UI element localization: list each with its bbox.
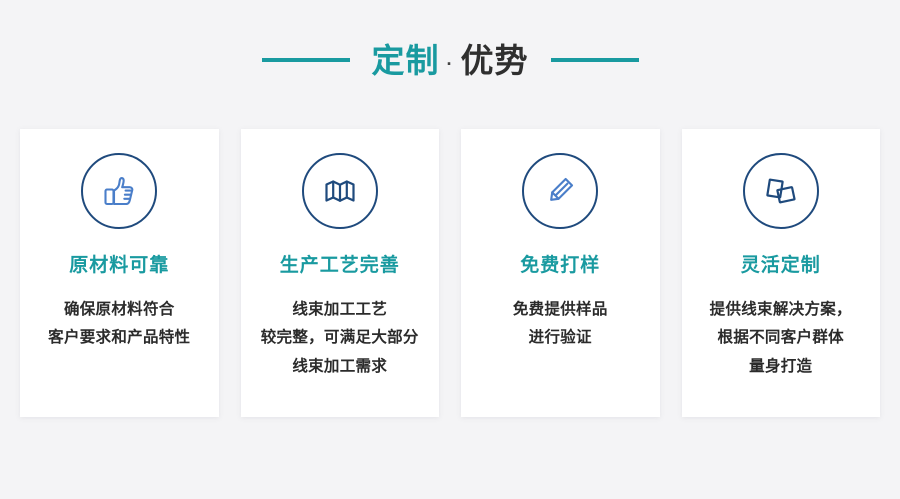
description-line: 较完整，可满足大部分 [261,324,419,353]
card-description: 免费提供样品 进行验证 [513,296,608,353]
card-title: 生产工艺完善 [280,255,400,278]
card-description: 确保原材料符合 客户要求和产品特性 [48,296,190,353]
description-line: 提供线束解决方案， [710,296,852,325]
thumbs-up-icon [81,153,157,229]
page-title-dark: 优势 [461,44,529,77]
description-line: 量身打造 [710,353,852,382]
page-title: 定制 · 优势 [372,44,529,77]
section-heading: 定制 · 优势 [0,0,900,86]
pencil-icon [522,153,598,229]
description-line: 客户要求和产品特性 [48,324,190,353]
heading-rule-right [551,58,639,62]
card-title: 原材料可靠 [69,255,169,278]
page-title-separator: · [440,55,461,73]
folded-map-icon [302,153,378,229]
advantage-card[interactable]: 原材料可靠 确保原材料符合 客户要求和产品特性 [20,129,219,417]
advantage-card[interactable]: 生产工艺完善 线束加工工艺 较完整，可满足大部分 线束加工需求 [241,129,440,417]
card-description: 线束加工工艺 较完整，可满足大部分 线束加工需求 [261,296,419,382]
description-line: 线束加工工艺 [261,296,419,325]
advantage-card-list: 原材料可靠 确保原材料符合 客户要求和产品特性 生产工艺完善 线束加工工艺 较完… [0,86,900,417]
card-description: 提供线束解决方案， 根据不同客户群体 量身打造 [710,296,852,382]
advantages-section: 定制 · 优势 原材料可靠 确保原材料符合 客户要求和产品特性 [0,0,900,499]
advantage-card[interactable]: 免费打样 免费提供样品 进行验证 [461,129,660,417]
heading-rule-left [262,58,350,62]
page-title-accent: 定制 [372,44,440,77]
description-line: 线束加工需求 [261,353,419,382]
description-line: 免费提供样品 [513,296,608,325]
description-line: 根据不同客户群体 [710,324,852,353]
card-title: 灵活定制 [741,255,821,278]
stacked-cards-icon [743,153,819,229]
card-title: 免费打样 [520,255,600,278]
advantage-card[interactable]: 灵活定制 提供线束解决方案， 根据不同客户群体 量身打造 [682,129,881,417]
description-line: 确保原材料符合 [48,296,190,325]
description-line: 进行验证 [513,324,608,353]
